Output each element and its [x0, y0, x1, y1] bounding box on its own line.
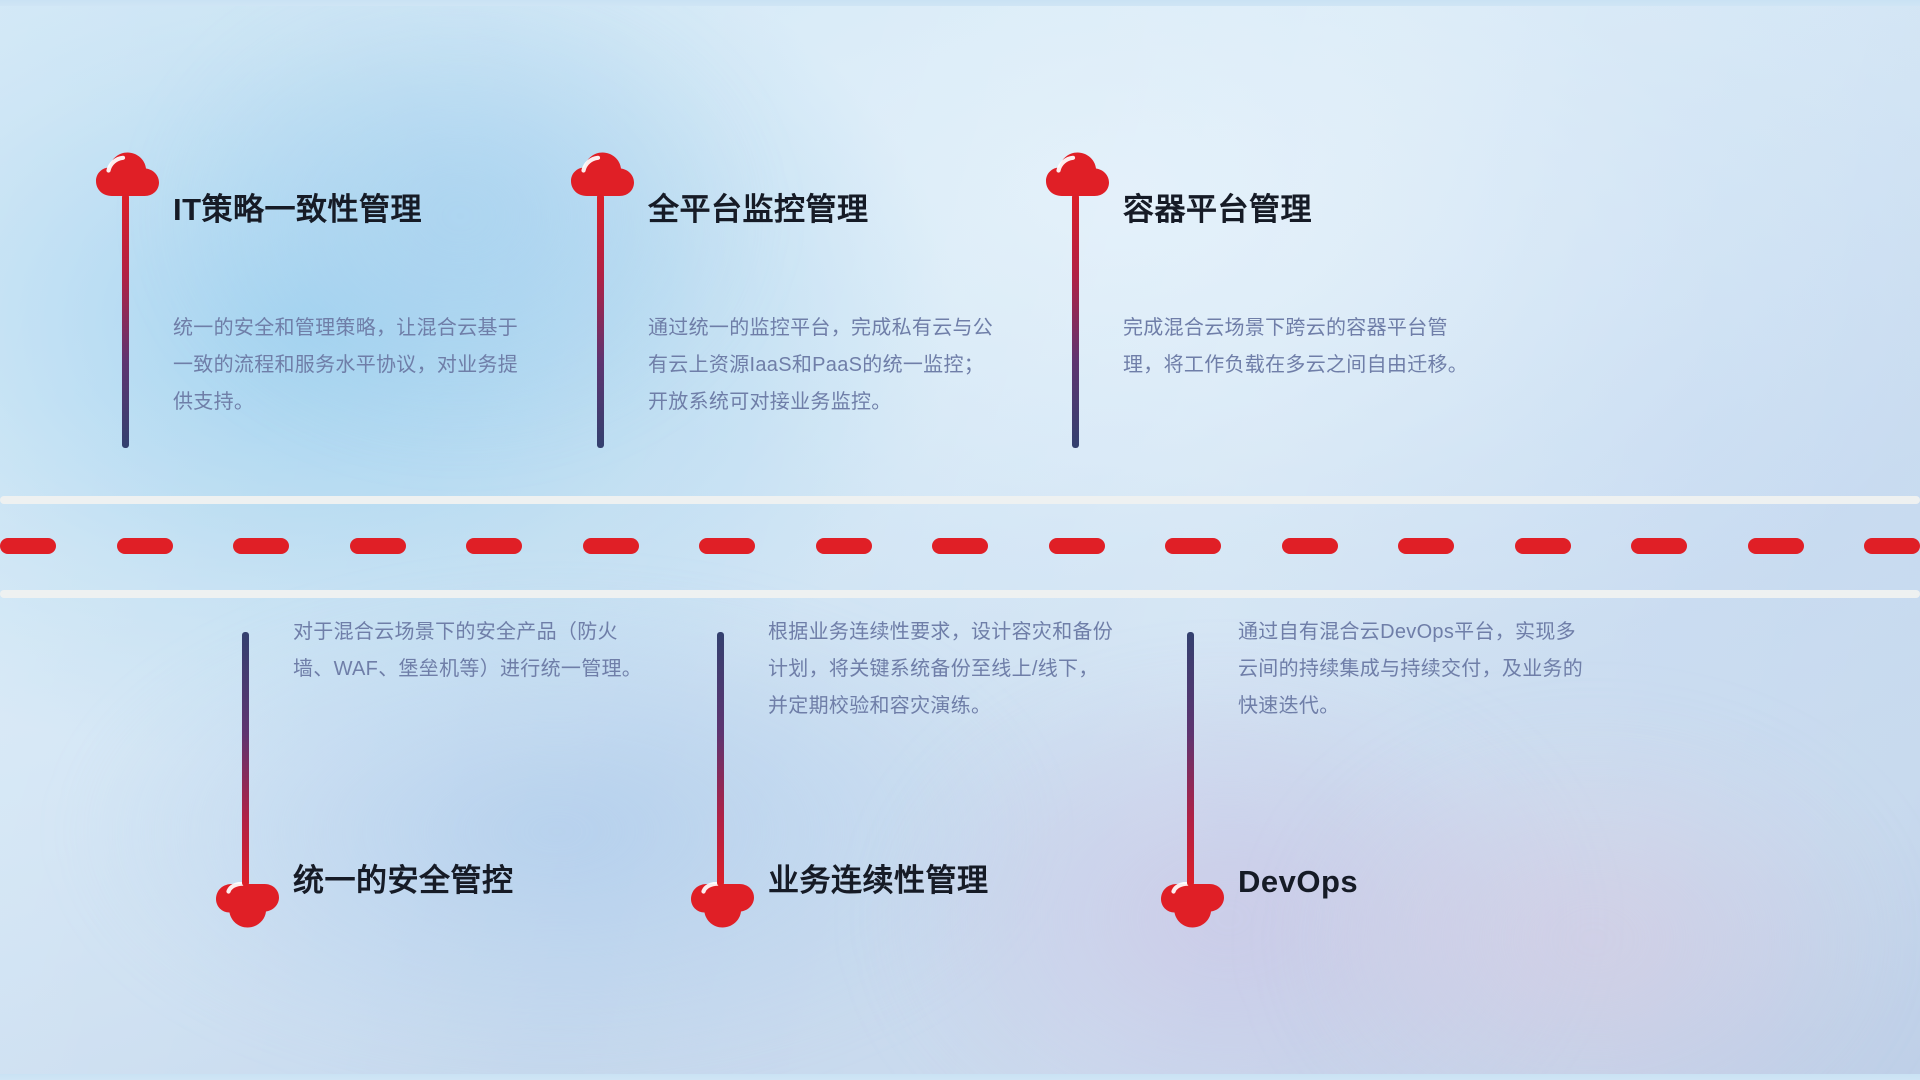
divider-dash — [1631, 538, 1687, 554]
stem-line — [597, 194, 604, 448]
card-unified-security[interactable]: 对于混合云场景下的安全产品（防火墙、WAF、堡垒机等）进行统一管理。 统一的安全… — [215, 600, 635, 930]
divider-dash — [932, 538, 988, 554]
divider-dash — [350, 538, 406, 554]
card-title: 统一的安全管控 — [293, 855, 514, 900]
card-body: 通过统一的监控平台，完成私有云与公有云上资源IaaS和PaaS的统一监控；开放系… — [648, 310, 998, 421]
card-body: 完成混合云场景下跨云的容器平台管理，将工作负载在多云之间自由迁移。 — [1123, 310, 1473, 384]
divider-dash — [1398, 538, 1454, 554]
stem-line — [717, 632, 724, 886]
divider-dash — [233, 538, 289, 554]
stem-line — [1072, 194, 1079, 448]
divider-dash — [1165, 538, 1221, 554]
cloud-icon — [1160, 882, 1226, 930]
pin-marker — [1160, 600, 1230, 930]
stem-line — [122, 194, 129, 448]
divider-rail-bottom — [0, 590, 1920, 598]
card-title: IT策略一致性管理 — [173, 184, 422, 229]
card-business-continuity[interactable]: 根据业务连续性要求，设计容灾和备份计划，将关键系统备份至线上/线下，并定期校验和… — [690, 600, 1110, 930]
card-title: DevOps — [1238, 864, 1358, 900]
card-body: 通过自有混合云DevOps平台，实现多云间的持续集成与持续交付，及业务的快速迭代… — [1238, 614, 1588, 725]
divider-dash — [699, 538, 755, 554]
letterbox-bottom — [0, 1074, 1920, 1080]
divider-dash — [1748, 538, 1804, 554]
divider-dash — [1049, 538, 1105, 554]
card-devops[interactable]: 通过自有混合云DevOps平台，实现多云间的持续集成与持续交付，及业务的快速迭代… — [1160, 600, 1580, 930]
cloud-icon — [95, 150, 161, 198]
divider-dash — [583, 538, 639, 554]
card-body: 统一的安全和管理策略，让混合云基于一致的流程和服务水平协议，对业务提供支持。 — [173, 310, 523, 421]
card-body: 对于混合云场景下的安全产品（防火墙、WAF、堡垒机等）进行统一管理。 — [293, 614, 643, 688]
divider-dash — [0, 538, 56, 554]
divider-dash — [1515, 538, 1571, 554]
infographic-canvas: IT策略一致性管理 统一的安全和管理策略，让混合云基于一致的流程和服务水平协议，… — [0, 0, 1920, 1080]
card-title: 容器平台管理 — [1123, 184, 1312, 229]
divider-dash — [466, 538, 522, 554]
stem-line — [242, 632, 249, 886]
pin-marker — [95, 150, 165, 480]
cloud-icon — [570, 150, 636, 198]
letterbox-top — [0, 0, 1920, 6]
card-title: 全平台监控管理 — [648, 184, 869, 229]
pin-marker — [1045, 150, 1115, 480]
pin-marker — [570, 150, 640, 480]
card-title: 业务连续性管理 — [768, 855, 989, 900]
pin-marker — [690, 600, 760, 930]
divider-dash — [816, 538, 872, 554]
divider-rail-top — [0, 496, 1920, 504]
divider-dash — [1282, 538, 1338, 554]
dashed-red-line — [0, 538, 1920, 554]
card-body: 根据业务连续性要求，设计容灾和备份计划，将关键系统备份至线上/线下，并定期校验和… — [768, 614, 1118, 725]
cloud-icon — [1045, 150, 1111, 198]
divider-dash — [1864, 538, 1920, 554]
cloud-icon — [690, 882, 756, 930]
pin-marker — [215, 600, 285, 930]
stem-line — [1187, 632, 1194, 886]
divider-dash — [117, 538, 173, 554]
divider-band — [0, 488, 1920, 608]
cloud-icon — [215, 882, 281, 930]
